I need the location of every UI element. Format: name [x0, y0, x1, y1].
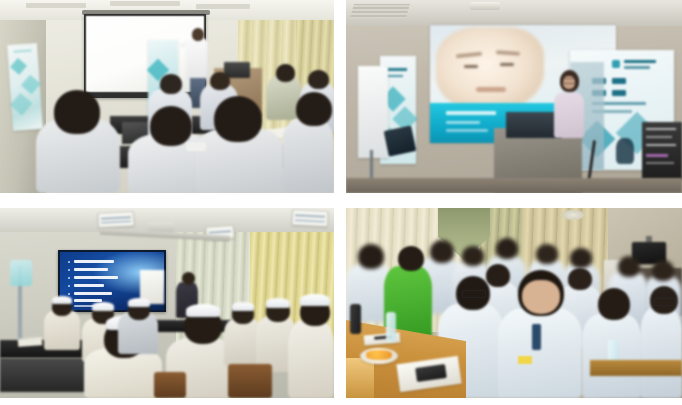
ceiling-sign [292, 209, 329, 227]
attendee-head-back-right [618, 256, 640, 277]
attendee-body-right [282, 118, 334, 193]
attendee-head-mid [568, 268, 592, 290]
badge [518, 356, 532, 364]
ceiling-light [470, 2, 500, 10]
attendee-head-right [296, 92, 332, 126]
ceiling-sign [98, 211, 135, 228]
presenter-torso [554, 92, 584, 138]
attendee-body-foreground-center [498, 308, 582, 398]
attendee-head-back [570, 248, 592, 268]
attendee-head-back [358, 244, 384, 269]
attendee-head-back [496, 238, 518, 259]
slide-portrait-face [436, 27, 544, 111]
phone-in-hand [186, 142, 206, 151]
presenter-head [192, 28, 204, 41]
attendee-head-foreground [150, 106, 192, 146]
attendee-head-foreground [54, 90, 100, 134]
snack-food [366, 350, 392, 360]
nurse-cap [52, 296, 72, 304]
attendee-body [44, 310, 80, 350]
presenter-glasses [562, 78, 578, 84]
iv-bag [10, 260, 32, 286]
attendee-head-foreground [214, 96, 262, 142]
attendee-glasses [654, 298, 676, 306]
floor [346, 178, 682, 193]
rollup-banner-left [7, 43, 43, 131]
nurse-cap [92, 302, 114, 311]
presenter-torso [186, 38, 208, 80]
nurse-cap [232, 302, 254, 311]
nurse-cap [128, 298, 150, 307]
photo-top-right[interactable] [346, 0, 682, 193]
attendee-body-right [288, 320, 334, 398]
attendee-glasses [462, 290, 486, 298]
table-edge [346, 358, 374, 398]
whiteboard-easel [358, 66, 388, 158]
attendee-head-right [598, 288, 630, 320]
attendee-head-back [430, 240, 454, 263]
attendee-green-shirt-head [398, 246, 424, 271]
attendee-head [160, 74, 182, 94]
chair-back [154, 372, 186, 398]
nurse-cap [266, 298, 290, 308]
attendee-face [522, 280, 560, 314]
nurse-cap [186, 304, 220, 317]
photo-bottom-right[interactable] [346, 208, 682, 398]
chair-back [228, 364, 272, 398]
ceiling-vent [350, 4, 410, 18]
attendee-head [308, 70, 329, 89]
attendee-head [276, 64, 295, 82]
paper-sheet [18, 337, 42, 347]
table-right [590, 360, 682, 376]
equipment-rack [642, 122, 682, 180]
photo-top-left[interactable] [0, 0, 334, 193]
attendee-head-mid [486, 264, 510, 287]
attendee-head-back [462, 246, 484, 266]
nurse-cap [300, 294, 330, 306]
photo-collage [0, 0, 682, 405]
ceiling-light [562, 210, 584, 220]
attendee-head [210, 72, 230, 90]
attendee-head-back [536, 244, 558, 264]
water-bottle [350, 304, 361, 334]
photo-bottom-left[interactable] [0, 208, 334, 398]
attendee-body-far-right [640, 308, 682, 398]
water-bottle [386, 312, 396, 342]
attendee-head-back-right [652, 260, 674, 281]
attendee-tie [532, 324, 541, 350]
instructor-head [182, 272, 195, 285]
